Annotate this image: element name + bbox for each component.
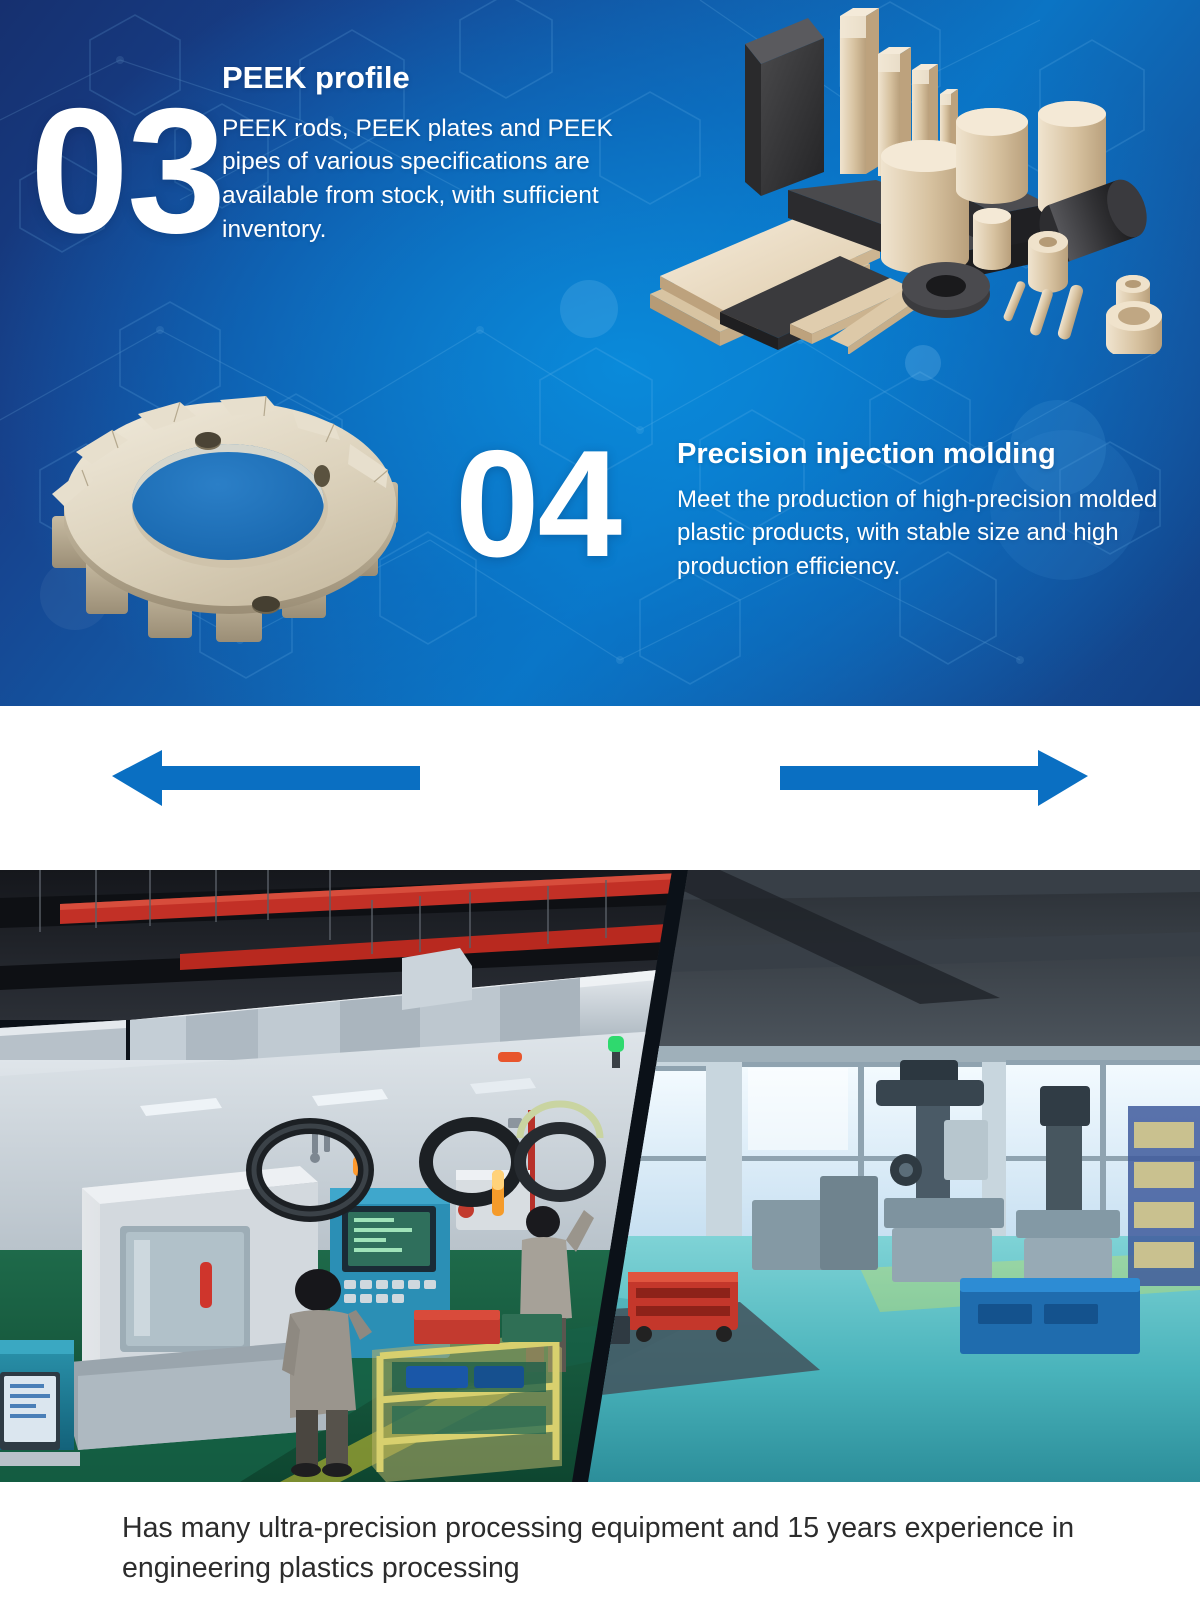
peek-gear-ring-image — [30, 378, 430, 668]
hero-block-title: PEEK profile — [222, 60, 652, 96]
strengths-band: Our strengths — [0, 706, 1200, 870]
hero-block-title: Precision injection molding — [677, 438, 1177, 471]
page-root: 03 PEEK profile PEEK rods, PEEK plates a… — [0, 0, 1200, 1612]
hero-block-04: 04 Precision injection molding Meet the … — [455, 420, 1175, 650]
hero-block-03: 03 PEEK profile PEEK rods, PEEK plates a… — [22, 60, 662, 330]
hero-block-text: Precision injection molding Meet the pro… — [677, 438, 1177, 583]
hero-block-number: 03 — [30, 82, 224, 260]
cnc-workshop-scene — [0, 870, 700, 1482]
hero-block-number: 04 — [455, 428, 620, 580]
hero-section: 03 PEEK profile PEEK rods, PEEK plates a… — [0, 0, 1200, 706]
hero-block-body: PEEK rods, PEEK plates and PEEK pipes of… — [222, 112, 652, 247]
photo-left-cnc-workshop — [0, 870, 700, 1482]
peek-stock-shapes-image — [640, 0, 1200, 354]
hero-block-text: PEEK profile PEEK rods, PEEK plates and … — [222, 60, 652, 247]
hero-block-body: Meet the production of high-precision mo… — [677, 483, 1177, 582]
double-arrow-graphic — [0, 706, 1200, 870]
footer-caption: Has many ultra-precision processing equi… — [0, 1482, 1200, 1612]
caption-text: Has many ultra-precision processing equi… — [122, 1508, 1082, 1589]
workshop-photos: 南京吉特 模具车间 Mold Workshop — [0, 870, 1200, 1482]
